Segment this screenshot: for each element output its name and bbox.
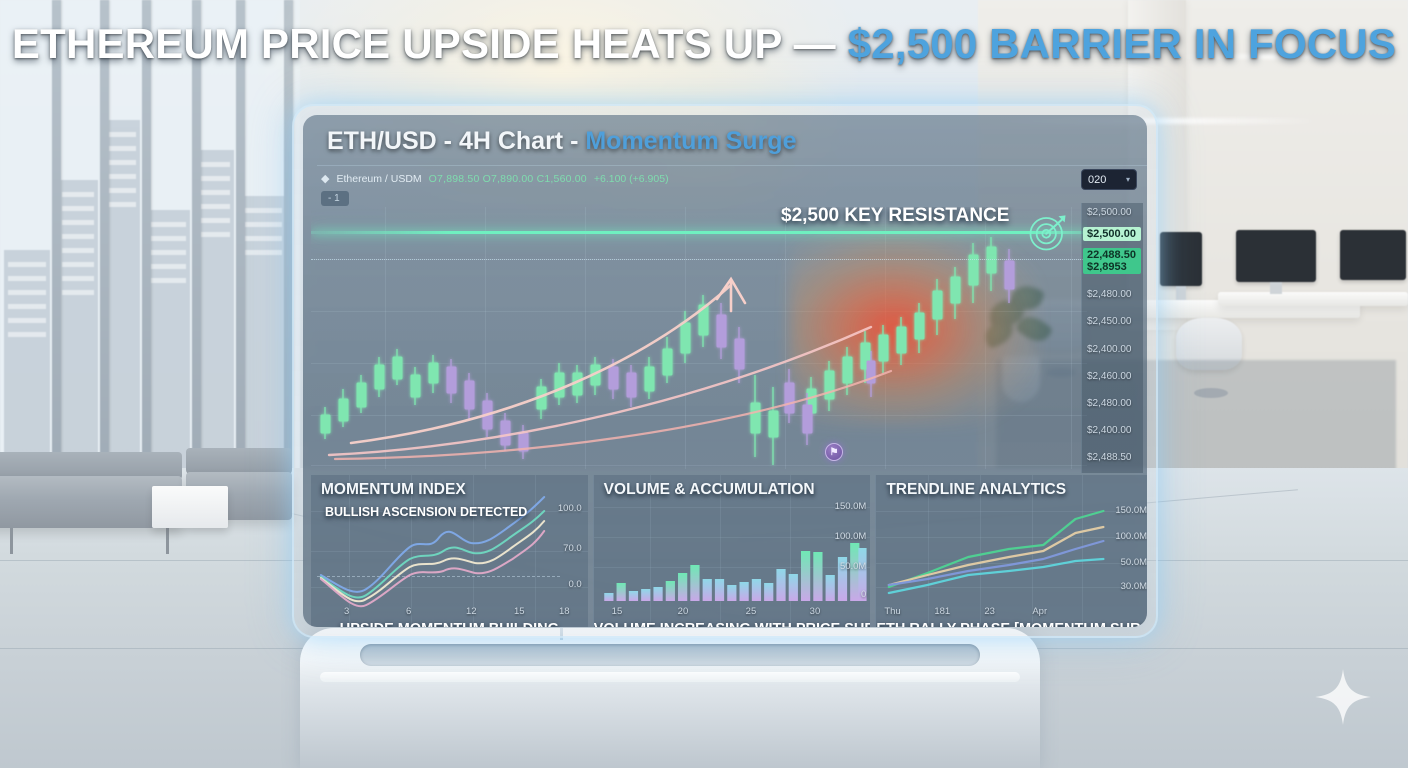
x-tick: 20 xyxy=(678,606,689,617)
subpanel-trendline-analytics[interactable]: TRENDLINE ANALYTICS 150.0M 100.0M 50.0M … xyxy=(875,475,1147,627)
headline-white: ETHEREUM PRICE UPSIDE HEATS UP — xyxy=(12,20,848,67)
chart-screen: ETH/USD - 4H Chart - Momentum Surge ◆ Et… xyxy=(303,115,1147,627)
timeframe-badge[interactable]: - 1 xyxy=(321,191,349,206)
resistance-label: $2,500 KEY RESISTANCE xyxy=(781,207,1009,227)
sparkle-icon xyxy=(1314,668,1372,726)
x-tick: 15 xyxy=(514,606,525,617)
subpanel-caption: VOLUME INCREASING WITH PRICE SURGE xyxy=(594,621,871,627)
subpanel-title: TRENDLINE ANALYTICS xyxy=(886,481,1066,499)
secondary-badge-top: 22,488.50 xyxy=(1087,249,1136,261)
x-tick: Apr xyxy=(1032,606,1047,617)
x-tick: 30 xyxy=(810,606,821,617)
chevron-down-icon: ▾ xyxy=(1126,175,1130,184)
analytics-subpanels: MOMENTUM INDEX BULLISH ASCENSION DETECTE… xyxy=(311,475,1147,627)
page-headline: ETHEREUM PRICE UPSIDE HEATS UP — $2,500 … xyxy=(0,22,1408,66)
y-tick: 150.0M xyxy=(835,501,867,512)
ticker-bar: ◆ Ethereum / USDM O7,898.50 O7,890.00 C1… xyxy=(321,173,669,185)
current-price-badge: $2,500.00 xyxy=(1083,227,1141,241)
subpanel-momentum-index[interactable]: MOMENTUM INDEX BULLISH ASCENSION DETECTE… xyxy=(311,475,588,627)
y-tick: 50.0M xyxy=(840,561,866,572)
kiosk-pedestal xyxy=(300,628,1040,768)
x-tick: 12 xyxy=(466,606,477,617)
x-tick: Thu xyxy=(884,606,900,617)
candlestick-chart[interactable]: $2,500 KEY RESISTANCE ⚑ xyxy=(311,207,1087,469)
dropdown-value: 020 xyxy=(1088,174,1106,186)
y-tick: 0.0 xyxy=(568,579,581,590)
candle-series xyxy=(311,207,1087,469)
price-tick: $2,500.00 xyxy=(1082,207,1143,218)
x-tick: 15 xyxy=(612,606,623,617)
y-tick: 100.0M xyxy=(1115,531,1147,542)
x-tick: 181 xyxy=(934,606,950,617)
price-tick: $2,400.00 xyxy=(1082,425,1143,436)
ticker-ohlc: O7,898.50 O7,890.00 C1,560.00 xyxy=(429,173,587,185)
interval-dropdown[interactable]: 020 ▾ xyxy=(1081,169,1137,190)
target-icon xyxy=(1027,211,1069,253)
secondary-badge-bottom: $2,8953 xyxy=(1087,261,1127,273)
flag-marker-icon[interactable]: ⚑ xyxy=(825,443,843,461)
price-axis[interactable]: $2,500.00 $2,500.00 22,488.50 $2,8953 $2… xyxy=(1081,203,1143,473)
subpanel-caption: UPSIDE MOMENTUM BUILDING xyxy=(311,621,588,627)
price-tick: $2,480.00 xyxy=(1082,289,1143,300)
secondary-price-badge: 22,488.50 $2,8953 xyxy=(1083,248,1141,274)
x-tick: 3 xyxy=(344,606,349,617)
subpanel-title: MOMENTUM INDEX xyxy=(321,481,466,499)
price-tick: $2,450.00 xyxy=(1082,316,1143,327)
y-tick: 0 xyxy=(861,589,866,600)
x-tick: 6 xyxy=(406,606,411,617)
price-tick: $2,480.00 xyxy=(1082,398,1143,409)
panel-title-accent: Momentum Surge xyxy=(585,127,796,155)
price-tick: $2,488.50 xyxy=(1082,452,1143,463)
x-tick: 25 xyxy=(746,606,757,617)
ticker-change: +6.100 (+6.905) xyxy=(594,173,669,185)
subpanel-subtitle: BULLISH ASCENSION DETECTED xyxy=(325,505,527,519)
holographic-display-panel: ETH/USD - 4H Chart - Momentum Surge ◆ Et… xyxy=(292,104,1158,638)
ethereum-icon: ◆ xyxy=(321,174,329,185)
panel-title-main: ETH/USD - 4H Chart - xyxy=(327,127,585,155)
kiosk-lip xyxy=(320,672,1020,682)
ticker-symbol[interactable]: Ethereum / USDM xyxy=(336,173,421,185)
y-tick: 100.0M xyxy=(835,531,867,542)
title-divider xyxy=(317,165,1147,166)
kiosk-slot xyxy=(360,644,980,666)
headline-accent: $2,500 BARRIER IN FOCUS xyxy=(848,20,1396,67)
y-tick: 150.0M xyxy=(1115,505,1147,516)
coffee-table xyxy=(152,486,228,528)
resistance-level-line xyxy=(311,231,1087,234)
window-wall-left xyxy=(0,0,300,500)
sofa-right-back xyxy=(186,448,292,474)
subpanel-title: VOLUME & ACCUMULATION xyxy=(604,481,815,499)
price-tick: $2,400.00 xyxy=(1082,344,1143,355)
y-tick: 100.0 xyxy=(558,503,582,514)
subpanel-caption: ETH RALLY PHASE [MOMENTUM SURGE] xyxy=(876,621,1147,627)
x-tick: 23 xyxy=(984,606,995,617)
chart-panel-title: ETH/USD - 4H Chart - Momentum Surge xyxy=(327,127,796,156)
price-tick: $2,460.00 xyxy=(1082,371,1143,382)
subpanel-volume-accumulation[interactable]: VOLUME & ACCUMULATION 150.0M 100.0M 50.0… xyxy=(593,475,871,627)
y-tick: 30.0M xyxy=(1121,581,1147,592)
y-tick: 50.0M xyxy=(1121,557,1147,568)
y-tick: 70.0 xyxy=(563,543,582,554)
secondary-level-line xyxy=(311,259,1087,260)
x-tick: 18 xyxy=(559,606,570,617)
